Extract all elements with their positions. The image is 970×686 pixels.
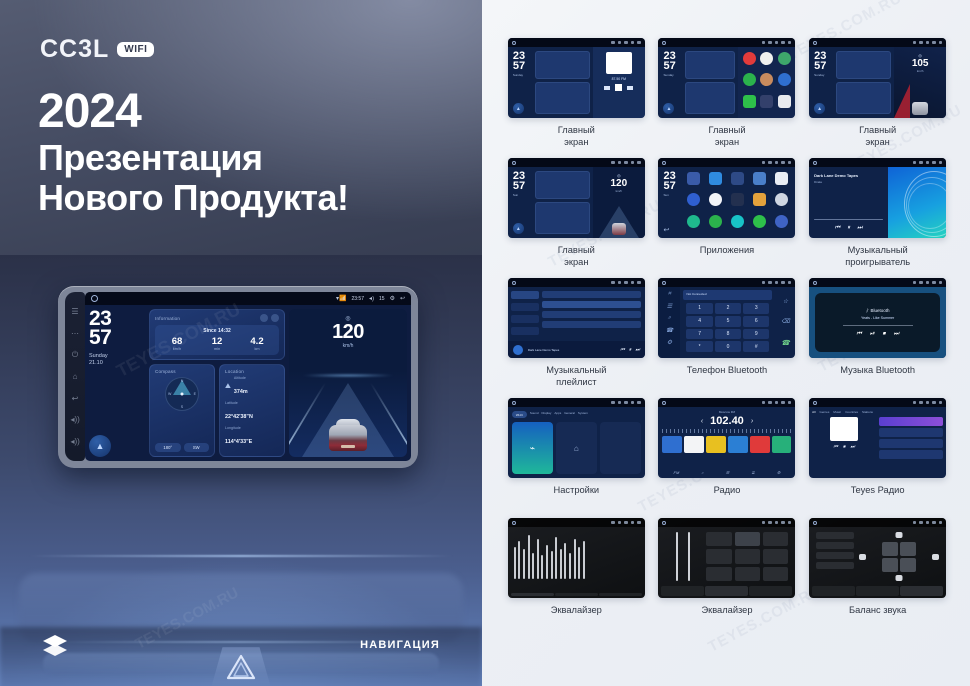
search-icon: ⌕ bbox=[701, 470, 703, 475]
speed-unit: km/h bbox=[343, 343, 354, 349]
gallery-item[interactable]: Dark Lane Demo Tapes ⏮⏸⏭ Музыкальныйплей… bbox=[504, 278, 649, 398]
thumbnail-playlist[interactable]: Dark Lane Demo Tapes ⏮⏸⏭ bbox=[508, 278, 645, 358]
thumbnail-music-player[interactable]: Dark Lane Demo Tapes Drake ⏮⏸⏭ bbox=[809, 158, 946, 238]
clock-date: 21.10 bbox=[89, 360, 145, 367]
more-hw-button[interactable]: ⋯ bbox=[71, 329, 80, 338]
track-list bbox=[542, 287, 645, 341]
album-art bbox=[606, 52, 632, 74]
latitude-label: Latitude bbox=[225, 401, 279, 405]
layers-icon bbox=[42, 634, 68, 656]
gallery-item[interactable]: Эквалайзер bbox=[655, 518, 800, 638]
home-icon bbox=[813, 401, 817, 405]
compass-dial: N S W E bbox=[165, 377, 199, 411]
compass-needle bbox=[181, 392, 184, 395]
gallery-grid: 2357 Sunday▲ 87.50 FM Главныйэкран bbox=[504, 38, 950, 638]
gallery-item[interactable]: Эквалайзер bbox=[504, 518, 649, 638]
equalizer-tabs[interactable] bbox=[508, 593, 645, 598]
gallery-item[interactable]: ᛒBluetooth Yeats - Like Summer ⏮⏯⏹⏭ Музы… bbox=[805, 278, 950, 398]
clock-icon bbox=[618, 41, 622, 45]
hero-panel: ☰ ⋯ ⏻ ⌂ ↩ ◂)) ◂)) ▾📶 23:57 ◂) 15 ⚙ bbox=[0, 0, 482, 686]
dialpad[interactable]: 123 456 789 *0# bbox=[683, 300, 772, 355]
hotspot-icon[interactable]: ⌂ bbox=[556, 422, 597, 474]
widgets-column: Information Since 14:32 68 bbox=[149, 309, 285, 457]
compass-north: N bbox=[181, 379, 184, 383]
station-list[interactable] bbox=[879, 417, 943, 475]
gallery-item[interactable]: 2357Sunday▲ Главныйэкран bbox=[655, 38, 800, 158]
brand-lockup: CC3L WIFI bbox=[40, 35, 154, 64]
mini-player-bar: Dark Lane Demo Tapes ⏮⏸⏭ bbox=[508, 341, 645, 358]
information-widget bbox=[535, 51, 590, 79]
home-icon bbox=[813, 41, 817, 45]
track-title: Yeats - Like Summer bbox=[861, 316, 894, 320]
call-icon[interactable]: ☎ bbox=[781, 339, 790, 347]
wifi-icon bbox=[611, 41, 615, 45]
album-art bbox=[830, 417, 858, 441]
back-icon bbox=[637, 41, 641, 45]
teyes-tabs[interactable]: AllGenresMusicCountriesStations bbox=[812, 410, 943, 414]
contacts-icon[interactable]: ☰ bbox=[667, 303, 672, 310]
wifi-icon[interactable]: ⌁ bbox=[512, 422, 553, 474]
home-icon bbox=[813, 161, 817, 165]
gallery-item[interactable]: ⌗ ☰ ⌕ ☎ ⚙ Not Connected 123 456 789 bbox=[655, 278, 800, 398]
compass-title: Compass bbox=[155, 369, 209, 374]
list-icon: ☰ bbox=[726, 470, 730, 475]
speed-widget: ◎ 120 km/h bbox=[593, 167, 645, 238]
expand-icon[interactable] bbox=[271, 314, 279, 322]
back-hw-button[interactable]: ↩ bbox=[71, 394, 80, 403]
volume-icon bbox=[624, 41, 628, 45]
title-line-2: Нового Продукта! bbox=[38, 180, 349, 216]
gallery-caption: Музыка Bluetooth bbox=[840, 365, 915, 377]
album-art bbox=[513, 345, 523, 355]
call-history-icon[interactable]: ☎ bbox=[666, 327, 673, 334]
gallery-item[interactable]: Wi-Fi SoundDisplay AppsGeneralSystem ⌁ ⌂… bbox=[504, 398, 649, 518]
home-icon bbox=[662, 41, 666, 45]
equalizer-tabs[interactable] bbox=[809, 586, 946, 598]
volume-up-hw-button[interactable]: ◂)) bbox=[71, 437, 80, 446]
home-icon bbox=[662, 161, 666, 165]
equalizer-tabs[interactable] bbox=[658, 586, 795, 598]
home-icon bbox=[512, 281, 516, 285]
car-3d-model bbox=[327, 415, 369, 451]
gallery-caption: Радио bbox=[714, 485, 741, 497]
preset-stations[interactable] bbox=[662, 436, 791, 453]
thumbnail-home-speed[interactable]: 2357Sun▲ ◎ 120 km/h bbox=[508, 158, 645, 238]
compass-location-widgets bbox=[535, 82, 590, 114]
gallery-item[interactable]: 2357Sun▲ ◎ 120 km/h Главныйэкран bbox=[504, 158, 649, 278]
information-title: Information bbox=[155, 316, 180, 321]
gallery-caption: Teyes Радио bbox=[851, 485, 905, 497]
home-icon bbox=[662, 281, 666, 285]
gallery-caption: Главныйэкран bbox=[558, 125, 595, 148]
thumbnail-equalizer-presets[interactable] bbox=[658, 518, 795, 598]
speed-value: 120 bbox=[610, 178, 627, 189]
stop-icon[interactable]: ⏹ bbox=[843, 444, 846, 450]
information-since: Since 14:32 bbox=[157, 328, 277, 334]
gallery-caption: Баланс звука bbox=[849, 605, 906, 617]
home-icon bbox=[512, 41, 516, 45]
latitude-value: 22°42'38"N bbox=[225, 414, 253, 420]
hero-footer: НАВИГАЦИЯ bbox=[0, 634, 482, 656]
information-widget[interactable]: Information Since 14:32 68 bbox=[149, 309, 285, 360]
thumbnail-bluetooth-music[interactable]: ᛒBluetooth Yeats - Like Summer ⏮⏯⏹⏭ bbox=[809, 278, 946, 358]
longitude-label: Longitude bbox=[225, 426, 279, 430]
presentation-slide: ☰ ⋯ ⏻ ⌂ ↩ ◂)) ◂)) ▾📶 23:57 ◂) 15 ⚙ bbox=[0, 0, 970, 686]
equalizer-sliders[interactable] bbox=[508, 527, 645, 593]
gallery-caption: Главныйэкран bbox=[859, 125, 896, 148]
band-icon: FM bbox=[674, 470, 680, 475]
volume-icon[interactable]: ◂) bbox=[369, 295, 374, 302]
home-icon bbox=[813, 281, 817, 285]
gallery-caption: Эквалайзер bbox=[701, 605, 752, 617]
previous-icon[interactable]: ⏮ bbox=[835, 225, 840, 232]
more-settings[interactable] bbox=[600, 422, 641, 474]
gallery-caption: Эквалайзер bbox=[551, 605, 602, 617]
backspace-icon[interactable]: ⌫ bbox=[781, 318, 789, 325]
pause-icon[interactable]: ⏸ bbox=[847, 225, 850, 232]
previous-station-icon[interactable]: ‹ bbox=[701, 418, 703, 425]
radio-toolbar[interactable]: FM⌕☰≣⚙ bbox=[662, 470, 791, 475]
road-edge-left bbox=[289, 383, 326, 457]
navigation-arrow-icon[interactable]: ▲ bbox=[89, 435, 111, 457]
title-year: 2024 bbox=[38, 88, 349, 136]
brand-name: CC3L bbox=[40, 35, 109, 64]
altitude-value: 374m bbox=[234, 389, 248, 395]
gallery-caption: Приложения bbox=[700, 245, 754, 257]
stop-icon[interactable]: ⏹ bbox=[883, 331, 886, 338]
power-hw-button[interactable]: ⏻ bbox=[71, 350, 80, 359]
stat-duration: 12 min bbox=[197, 337, 237, 351]
speed-value: 105 bbox=[912, 58, 929, 69]
status-bar: ▾📶 23:57 ◂) 15 ⚙ ↩ bbox=[85, 292, 411, 305]
stat-distance: 4.2 km bbox=[237, 337, 277, 351]
road-edge-right bbox=[370, 383, 407, 457]
location-widget[interactable]: Location ⛰ Altitude 374m Latitude bbox=[219, 364, 285, 457]
balance-rear-button[interactable] bbox=[896, 575, 903, 581]
preset-buttons[interactable] bbox=[706, 532, 788, 581]
gallery-caption: Главныйэкран bbox=[708, 125, 745, 148]
balance-presets[interactable] bbox=[816, 532, 854, 581]
head-unit-screen: ▾📶 23:57 ◂) 15 ⚙ ↩ 23 57 Sunday 21.10 bbox=[85, 292, 411, 461]
radio-frequency: 87.50 FM bbox=[612, 77, 626, 81]
app-drawer[interactable] bbox=[680, 167, 795, 238]
gallery-item[interactable]: Баланс звука bbox=[805, 518, 950, 638]
altitude-label: Altitude bbox=[234, 376, 248, 380]
thumbnail-home-speed-red[interactable]: 2357Sunday▲ ◎ 105 km/h bbox=[809, 38, 946, 118]
compass-widget[interactable]: Compass N S W E 180° bbox=[149, 364, 215, 457]
next-icon[interactable]: ⏭ bbox=[857, 225, 862, 232]
hardware-button-rail[interactable]: ☰ ⋯ ⏻ ⌂ ↩ ◂)) ◂)) bbox=[65, 292, 85, 461]
next-icon[interactable]: ⏭ bbox=[894, 331, 899, 338]
gallery-caption: Главныйэкран bbox=[558, 245, 595, 268]
next-icon[interactable]: ⏭ bbox=[850, 444, 855, 450]
gallery-item[interactable]: 2357Sunday▲ ◎ 105 km/h Главныйэкран bbox=[805, 38, 950, 158]
home-icon[interactable] bbox=[91, 295, 98, 302]
radio-frequency: 102.40 bbox=[710, 415, 744, 427]
page-title: 2024 Презентация Нового Продукта! bbox=[38, 88, 349, 216]
dialpad-icon[interactable]: ⌗ bbox=[668, 291, 671, 298]
compass-east: E bbox=[194, 392, 196, 396]
gallery-item[interactable]: AllGenresMusicCountriesStations ⏮⏹⏭ bbox=[805, 398, 950, 518]
speed-widget: ◎ 105 km/h bbox=[894, 47, 946, 118]
navigation-label: НАВИГАЦИЯ bbox=[360, 639, 440, 651]
speed-value: 120 bbox=[332, 322, 364, 342]
number-input[interactable]: Not Connected bbox=[683, 290, 772, 300]
gallery-caption: Настройки bbox=[554, 485, 600, 497]
home-icon bbox=[662, 401, 666, 405]
menu-hw-button[interactable]: ☰ bbox=[71, 307, 80, 316]
phone-sidebar: ⌗ ☰ ⌕ ☎ ⚙ bbox=[658, 287, 680, 358]
compass-west: W bbox=[168, 392, 171, 396]
car-license-plate bbox=[341, 445, 355, 448]
ambient-light-line bbox=[29, 555, 453, 557]
wifi-badge: WIFI bbox=[117, 42, 154, 57]
previous-icon[interactable]: ⏮ bbox=[833, 444, 838, 450]
gallery-caption: Музыкальныйпроигрыватель bbox=[845, 245, 910, 268]
gain-sliders[interactable] bbox=[665, 532, 701, 581]
balance-pad[interactable] bbox=[859, 532, 939, 581]
screenshot-gallery: TEYES.COM.RU TEYES.COM.RU TEYES.COM.RU T… bbox=[482, 0, 970, 686]
thumbnail-radio[interactable]: Moscow FM ‹ 102.40 › bbox=[658, 398, 795, 478]
search-icon[interactable]: ⌕ bbox=[668, 315, 671, 322]
favorite-icon[interactable]: ☆ bbox=[783, 298, 788, 305]
screen-content: 23 57 Sunday 21.10 ▲ Information bbox=[85, 305, 411, 461]
volume-down-hw-button[interactable]: ◂)) bbox=[71, 415, 80, 424]
gear-icon[interactable]: ⚙ bbox=[390, 295, 395, 302]
hazard-triangle-icon[interactable] bbox=[226, 653, 256, 680]
status-volume-value: 15 bbox=[379, 296, 385, 302]
thumbnail-equalizer-bars[interactable] bbox=[508, 518, 645, 598]
settings-icon: ⚙ bbox=[777, 470, 781, 475]
back-arrow-icon[interactable]: ↩ bbox=[400, 295, 405, 302]
clock-weekday: Sunday bbox=[89, 353, 145, 360]
navigation-arrow-icon: ▲ bbox=[513, 103, 524, 114]
home-icon bbox=[662, 521, 666, 525]
thumbnail-bluetooth-phone[interactable]: ⌗ ☰ ⌕ ☎ ⚙ Not Connected 123 456 789 bbox=[658, 278, 795, 358]
longitude-value: 114°4'33"E bbox=[225, 439, 252, 445]
frequency-scale[interactable] bbox=[662, 429, 791, 433]
progress-bar[interactable] bbox=[814, 219, 883, 221]
home-icon bbox=[512, 161, 516, 165]
status-time: 23:57 bbox=[351, 296, 364, 302]
thumbnail-teyes-radio[interactable]: AllGenresMusicCountriesStations ⏮⏹⏭ bbox=[809, 398, 946, 478]
equalizer-icon: ≣ bbox=[751, 470, 754, 475]
gallery-caption: Музыкальныйплейлист bbox=[546, 365, 606, 388]
next-icon[interactable]: ⏭ bbox=[635, 347, 640, 353]
location-title: Location bbox=[225, 369, 279, 374]
balance-right-button[interactable] bbox=[932, 554, 939, 560]
home-icon bbox=[512, 521, 516, 525]
head-unit-device: ☰ ⋯ ⏻ ⌂ ↩ ◂)) ◂)) ▾📶 23:57 ◂) 15 ⚙ bbox=[58, 286, 418, 468]
thumbnail-apps[interactable]: 2357Sun ↩ bbox=[658, 158, 795, 238]
clock-column: 23 57 Sunday 21.10 ▲ bbox=[89, 309, 145, 457]
play-pause-icon[interactable]: ⏯ bbox=[870, 331, 875, 338]
visualizer bbox=[888, 167, 946, 238]
previous-icon[interactable]: ⏮ bbox=[620, 347, 625, 353]
gallery-item[interactable]: Dark Lane Demo Tapes Drake ⏮⏸⏭ bbox=[805, 158, 950, 278]
home-icon bbox=[813, 521, 817, 525]
pause-icon[interactable]: ⏸ bbox=[629, 347, 632, 353]
track-title: Dark Lane Demo Tapes bbox=[814, 173, 883, 178]
gallery-item[interactable]: Moscow FM ‹ 102.40 › bbox=[655, 398, 800, 518]
bluetooth-icon: ᛒ bbox=[866, 308, 869, 313]
gear-icon bbox=[631, 41, 635, 45]
thumbnail-home-apps[interactable]: 2357Sunday▲ bbox=[658, 38, 795, 118]
mountain-icon: ⛰ bbox=[225, 383, 231, 391]
wifi-icon: ▾📶 bbox=[336, 295, 346, 302]
refresh-icon[interactable] bbox=[260, 314, 268, 322]
settings-tabs[interactable]: Wi-Fi SoundDisplay AppsGeneralSystem bbox=[512, 411, 641, 418]
gallery-item[interactable]: 2357 Sunday▲ 87.50 FM Главныйэкран bbox=[504, 38, 649, 158]
thumbnail-sound-balance[interactable] bbox=[809, 518, 946, 598]
speed-widget[interactable]: ◎ 120 km/h bbox=[289, 309, 407, 457]
compass-heading: 180° bbox=[155, 443, 181, 452]
gallery-item[interactable]: 2357Sun ↩ Приложения bbox=[655, 158, 800, 278]
playlist-sidebar bbox=[508, 287, 542, 341]
settings-icon[interactable]: ⚙ bbox=[667, 339, 672, 346]
app-shortcuts bbox=[738, 47, 796, 118]
next-station-icon[interactable]: › bbox=[751, 418, 753, 425]
balance-left-button[interactable] bbox=[859, 554, 866, 560]
gallery-caption: Телефон Bluetooth bbox=[687, 365, 767, 377]
home-icon bbox=[512, 401, 516, 405]
stat-speed: 68 km/h bbox=[157, 337, 197, 351]
clock-minutes: 57 bbox=[89, 328, 145, 347]
title-line-1: Презентация bbox=[38, 140, 349, 176]
balance-front-button[interactable] bbox=[896, 532, 903, 538]
home-hw-button[interactable]: ⌂ bbox=[71, 372, 80, 381]
thumbnail-home-media[interactable]: 2357 Sunday▲ 87.50 FM bbox=[508, 38, 645, 118]
back-icon[interactable]: ↩ bbox=[663, 226, 680, 234]
compass-south: S bbox=[181, 405, 183, 409]
previous-icon[interactable]: ⏮ bbox=[856, 331, 861, 338]
thumbnail-settings[interactable]: Wi-Fi SoundDisplay AppsGeneralSystem ⌁ ⌂ bbox=[508, 398, 645, 478]
progress-bar[interactable] bbox=[843, 325, 913, 326]
compass-direction: SW bbox=[184, 443, 210, 452]
